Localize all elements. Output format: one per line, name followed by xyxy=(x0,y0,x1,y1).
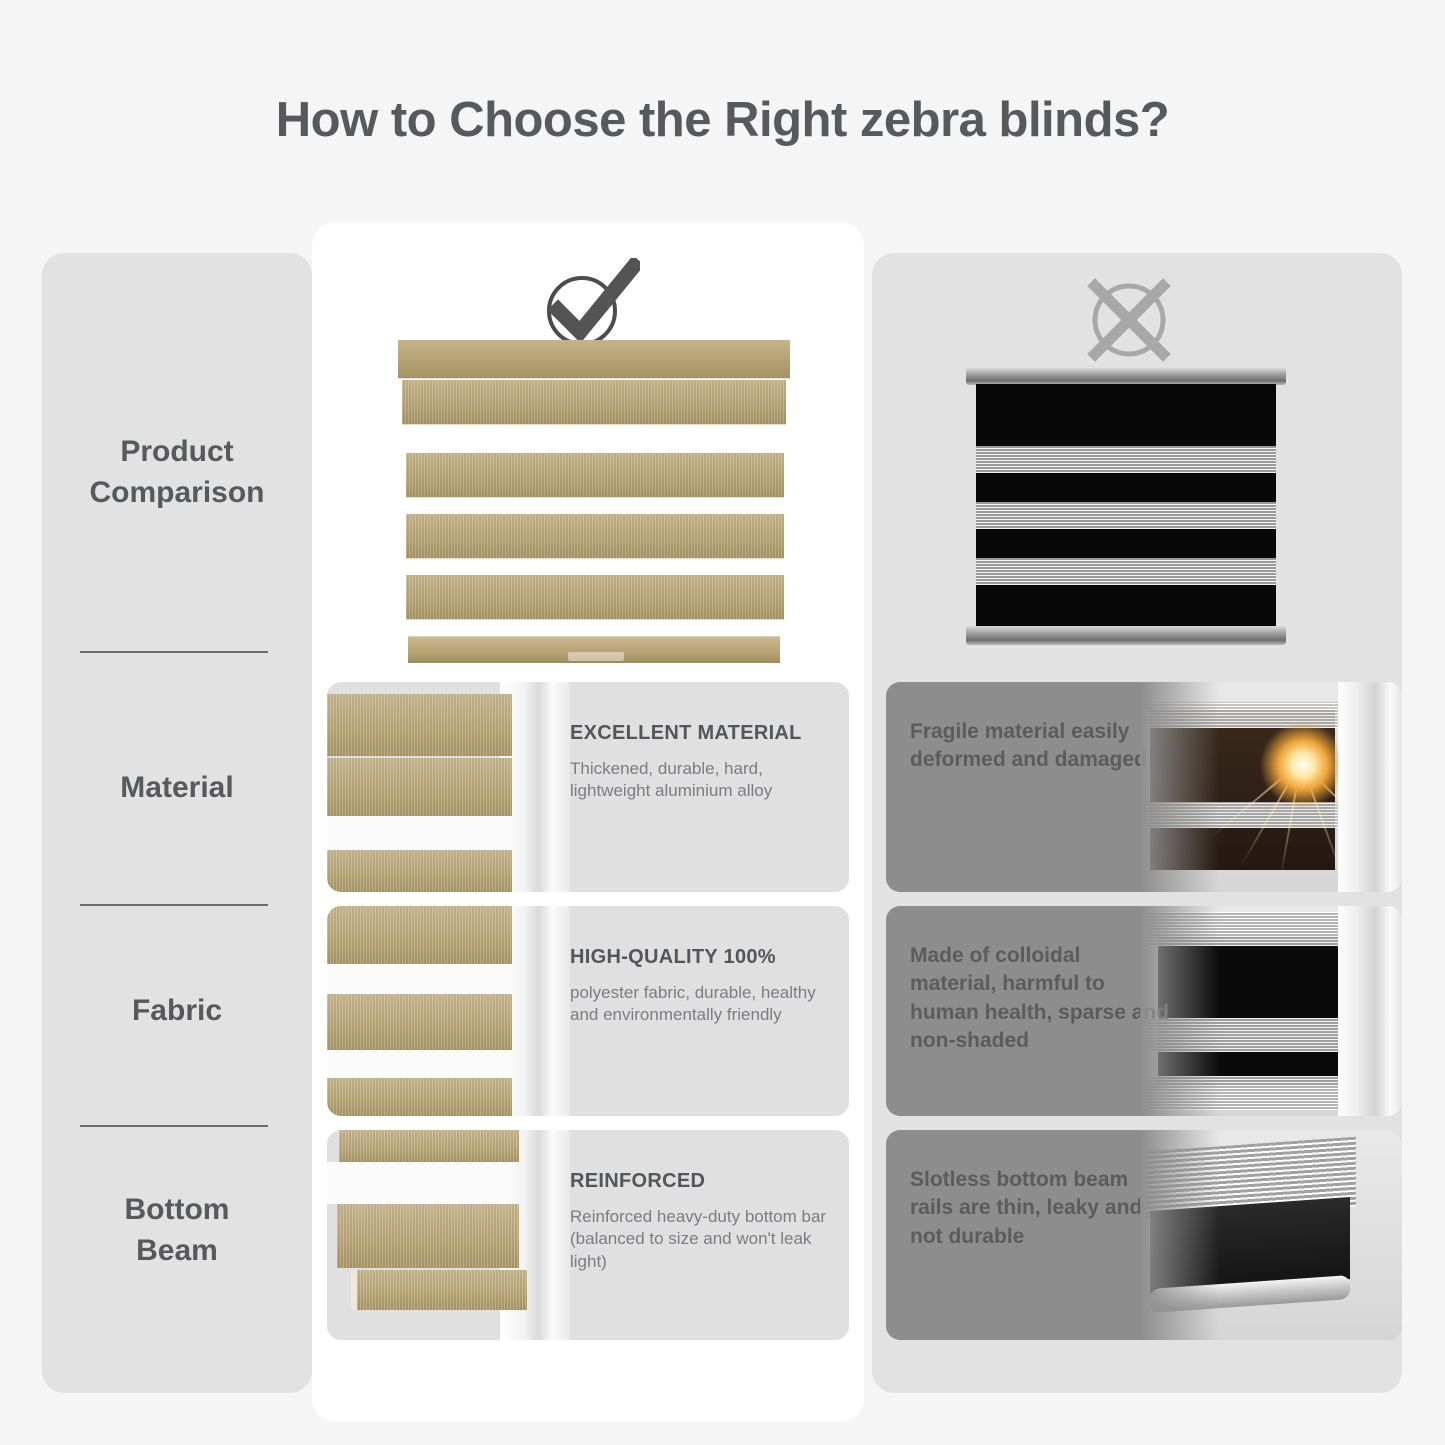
image-fade xyxy=(1140,1130,1220,1340)
blind-bottom-rail xyxy=(966,626,1286,645)
window-frame xyxy=(1338,906,1402,1116)
blind-sheer-band xyxy=(976,446,1276,473)
image-fade xyxy=(1140,906,1220,1116)
card-description: Thickened, durable, hard, lightweight al… xyxy=(570,758,835,803)
black-blind-sparse-fabric-image xyxy=(1140,906,1402,1116)
row-divider xyxy=(80,1125,268,1127)
blind-slab xyxy=(327,1078,512,1116)
row-label-line2: Comparison xyxy=(42,473,312,514)
blind-pull-tab xyxy=(568,652,624,661)
row-label-bottom-beam: Bottom Beam xyxy=(42,1190,312,1271)
thin-bottom-rail-closeup-image xyxy=(1140,1130,1402,1340)
blind-slab xyxy=(339,1130,519,1162)
row-label-line1: Material xyxy=(42,768,312,809)
card-text: Slotless bottom beam rails are thin, lea… xyxy=(910,1166,1170,1251)
tan-blind-bottom-bar-closeup-image xyxy=(327,1130,570,1340)
check-circle-icon xyxy=(536,258,640,352)
card-text: Made of colloidal material, harmful to h… xyxy=(910,942,1170,1055)
blind-slab xyxy=(337,1204,519,1268)
card-text: HIGH-QUALITY 100% polyester fabric, dura… xyxy=(570,946,835,1027)
blind-slab xyxy=(327,758,512,816)
blind-headrail xyxy=(966,368,1286,385)
blind-sheer-band xyxy=(976,502,1276,529)
blind-gap xyxy=(327,964,512,994)
window-light-leak-sunburst-image xyxy=(1140,682,1402,892)
row-label-product-comparison: Product Comparison xyxy=(42,432,312,513)
blind-gap xyxy=(327,1162,512,1204)
black-zebra-blind-product-image xyxy=(966,368,1286,646)
card-text: EXCELLENT MATERIAL Thickened, durable, h… xyxy=(570,722,835,803)
blind-slab xyxy=(327,850,512,892)
blind-band xyxy=(406,575,784,620)
blind-bottom-bar xyxy=(351,1270,527,1310)
blind-slab xyxy=(327,994,512,1050)
blind-gap xyxy=(327,1050,512,1078)
card-description: polyester fabric, durable, healthy and e… xyxy=(570,982,835,1027)
feature-card-material-good: EXCELLENT MATERIAL Thickened, durable, h… xyxy=(327,682,849,892)
row-divider xyxy=(80,904,268,906)
card-description: Reinforced heavy-duty bottom bar (balanc… xyxy=(570,1206,835,1273)
window-frame xyxy=(1338,682,1402,892)
card-text: Fragile material easily deformed and dam… xyxy=(910,718,1170,775)
card-title: HIGH-QUALITY 100% xyxy=(570,946,835,969)
blind-sheer-band xyxy=(976,558,1276,585)
image-fade xyxy=(1140,682,1220,892)
row-label-fabric: Fabric xyxy=(42,991,312,1032)
tan-zebra-blind-product-image xyxy=(392,340,792,665)
blind-fabric xyxy=(976,384,1276,628)
card-title: REINFORCED xyxy=(570,1170,835,1193)
feature-card-fabric-bad: Made of colloidal material, harmful to h… xyxy=(886,906,1402,1116)
page-title: How to Choose the Right zebra blinds? xyxy=(0,92,1445,148)
feature-card-bottom-beam-good: REINFORCED Reinforced heavy-duty bottom … xyxy=(327,1130,849,1340)
card-text: REINFORCED Reinforced heavy-duty bottom … xyxy=(570,1170,835,1273)
blind-band xyxy=(402,380,786,425)
feature-card-fabric-good: HIGH-QUALITY 100% polyester fabric, dura… xyxy=(327,906,849,1116)
blind-band xyxy=(406,514,784,559)
feature-card-material-bad: Fragile material easily deformed and dam… xyxy=(886,682,1402,892)
tan-blind-fabric-closeup-image xyxy=(327,906,570,1116)
blind-gap xyxy=(327,816,512,850)
blind-slab xyxy=(327,906,512,964)
card-title: EXCELLENT MATERIAL xyxy=(570,722,835,745)
row-label-material: Material xyxy=(42,768,312,809)
row-label-line2: Beam xyxy=(42,1231,312,1272)
blind-headrail xyxy=(398,340,790,378)
cross-circle-icon xyxy=(1083,274,1175,366)
tan-blind-window-closeup-image xyxy=(327,682,570,892)
sun-glare xyxy=(1258,720,1348,810)
row-label-line1: Bottom xyxy=(42,1190,312,1231)
blind-slab xyxy=(327,694,512,756)
row-label-line1: Fabric xyxy=(42,991,312,1032)
feature-card-bottom-beam-bad: Slotless bottom beam rails are thin, lea… xyxy=(886,1130,1402,1340)
row-label-line1: Product xyxy=(42,432,312,473)
blind-band xyxy=(406,453,784,498)
row-divider xyxy=(80,651,268,653)
